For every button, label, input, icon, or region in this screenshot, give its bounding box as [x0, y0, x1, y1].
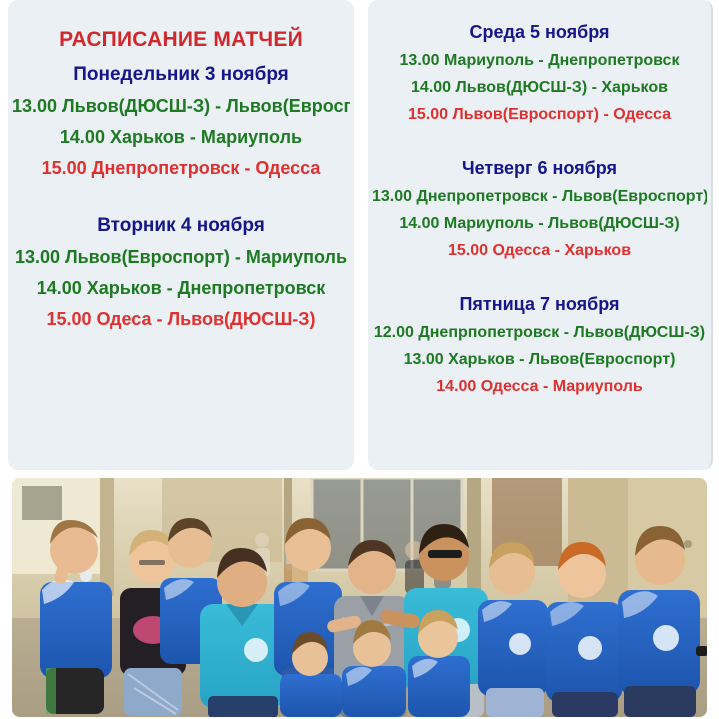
schedule-area: РАСПИСАНИЕ МАТЧЕЙ Понедельник 3 ноября13… — [0, 0, 719, 476]
match-line: 15.00 Одеса - Львов(ДЮСШ-З) — [12, 309, 350, 330]
match-line: 14.00 Львов(ДЮСШ-З) - Харьков — [372, 79, 707, 97]
match-line: 13.00 Харьков - Львов(Евроспорт) — [372, 351, 707, 369]
day-block-вторник-4-ноября: Вторник 4 ноября13.00 Львов(Евроспорт) -… — [12, 215, 350, 330]
day-block-среда-5-ноября: Среда 5 ноября13.00 Мариуполь - Днепропе… — [372, 22, 707, 124]
team-photo-image — [12, 478, 707, 717]
day-header: Вторник 4 ноября — [12, 215, 350, 237]
match-line: 13.00 Днепропетровск - Львов(Евроспорт) — [372, 188, 707, 206]
match-line: 14.00 Мариуполь - Львов(ДЮСШ-З) — [372, 215, 707, 233]
match-line: 12.00 Днепрпопетровск - Львов(ДЮСШ-З) — [372, 324, 707, 342]
schedule-panel-left: РАСПИСАНИЕ МАТЧЕЙ Понедельник 3 ноября13… — [8, 0, 354, 470]
poster-page: РАСПИСАНИЕ МАТЧЕЙ Понедельник 3 ноября13… — [0, 0, 719, 719]
page-title: РАСПИСАНИЕ МАТЧЕЙ — [12, 28, 350, 52]
day-header: Четверг 6 ноября — [372, 158, 707, 179]
right-column-days: Среда 5 ноября13.00 Мариуполь - Днепропе… — [372, 22, 707, 396]
schedule-panel-right: Среда 5 ноября13.00 Мариуполь - Днепропе… — [368, 0, 713, 470]
day-block-понедельник-3-ноября: Понедельник 3 ноября13.00 Львов(ДЮСШ-З) … — [12, 64, 350, 179]
match-line: 15.00 Одесса - Харьков — [372, 242, 707, 260]
match-line: 15.00 Днепропетровск - Одесса — [12, 158, 350, 179]
day-header: Среда 5 ноября — [372, 22, 707, 43]
day-header: Понедельник 3 ноября — [12, 64, 350, 86]
match-line: 13.00 Мариуполь - Днепропетровск — [372, 52, 707, 70]
day-block-четверг-6-ноября: Четверг 6 ноября13.00 Днепропетровск - Л… — [372, 158, 707, 260]
match-line: 14.00 Харьков - Мариуполь — [12, 127, 350, 148]
left-column-days: Понедельник 3 ноября13.00 Львов(ДЮСШ-З) … — [12, 64, 350, 330]
match-line: 14.00 Харьков - Днепропетровск — [12, 278, 350, 299]
match-line: 15.00 Львов(Евроспорт) - Одесса — [372, 106, 707, 124]
match-line: 13.00 Львов(ДЮСШ-З) - Львов(Евроспорт) — [12, 96, 350, 117]
day-block-пятница-7-ноября: Пятница 7 ноября12.00 Днепрпопетровск - … — [372, 294, 707, 396]
match-line: 14.00 Одесса - Мариуполь — [372, 378, 707, 396]
team-photo — [12, 478, 707, 717]
day-header: Пятница 7 ноября — [372, 294, 707, 315]
match-line: 13.00 Львов(Евроспорт) - Мариуполь — [12, 247, 350, 268]
